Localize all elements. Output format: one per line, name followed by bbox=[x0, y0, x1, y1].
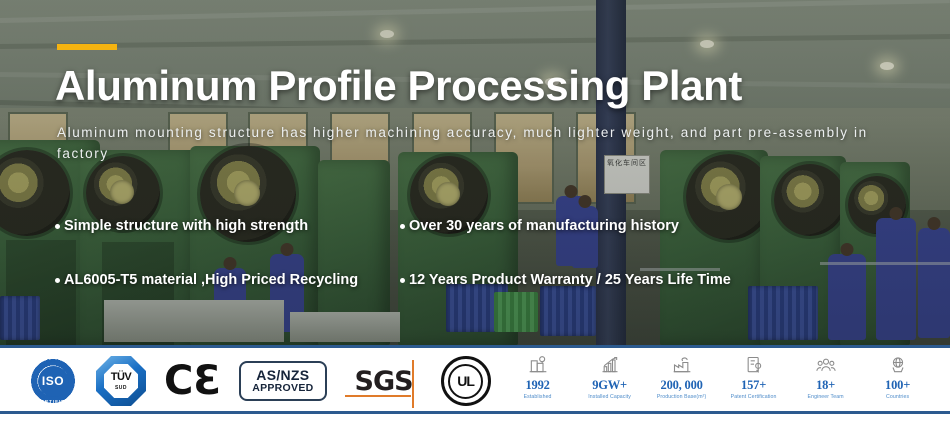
sgs-badge-vertical-rule bbox=[412, 360, 414, 408]
list-item: AL6005-T5 material ,High Priced Recyclin… bbox=[55, 272, 400, 288]
bullet-column: 12 Years Product Warranty / 25 Years Lif… bbox=[400, 272, 860, 288]
bullet-dot-icon bbox=[55, 278, 60, 283]
stat-value: 100+ bbox=[869, 378, 927, 393]
certificate-doc-icon bbox=[725, 354, 783, 376]
page-title: Aluminum Profile Processing Plant bbox=[55, 62, 915, 110]
stat-label: Patent Certification bbox=[725, 394, 783, 400]
bullet-dot-icon bbox=[400, 224, 405, 229]
sgs-badge-icon: SGS bbox=[345, 360, 423, 403]
bullet-column: Over 30 years of manufacturing history bbox=[400, 218, 860, 234]
as-nzs-approved-badge-icon: AS/NZS APPROVED bbox=[239, 361, 326, 402]
stat-value: 9GW+ bbox=[581, 378, 639, 393]
company-stats-list: 1992 Established 9GW+ Installed Capacity bbox=[491, 348, 927, 400]
bullet-row: AL6005-T5 material ,High Priced Recyclin… bbox=[55, 272, 915, 288]
bullet-text: 12 Years Product Warranty / 25 Years Lif… bbox=[409, 272, 731, 288]
stat-countries: 100+ Countries bbox=[869, 354, 927, 400]
tuv-sud-badge-icon: TÜV SUD bbox=[96, 356, 146, 406]
bullet-dot-icon bbox=[400, 278, 405, 283]
promo-banner: 氧化车间区 Aluminum Profile Processing Plant … bbox=[0, 0, 950, 428]
sgs-badge-label: SGS bbox=[355, 366, 413, 397]
stat-label: Installed Capacity bbox=[581, 394, 639, 400]
stat-engineer-team: 18+ Engineer Team bbox=[797, 354, 855, 400]
stat-label: Countries bbox=[869, 394, 927, 400]
accent-bar bbox=[57, 44, 117, 50]
hero-subtitle: Aluminum mounting structure has higher m… bbox=[57, 122, 917, 164]
stat-value: 200, 000 bbox=[653, 378, 711, 393]
tuv-badge-sub-label: SUD bbox=[115, 385, 127, 391]
asnzs-badge-line1: AS/NZS bbox=[256, 368, 309, 383]
ul-listed-badge-icon: UL bbox=[441, 356, 491, 406]
list-item: Simple structure with high strength bbox=[55, 218, 400, 234]
asnzs-badge-line2: APPROVED bbox=[252, 382, 313, 394]
bullet-row: Simple structure with high strength Over… bbox=[55, 218, 915, 234]
bullet-text: Over 30 years of manufacturing history bbox=[409, 218, 679, 234]
bullet-text: AL6005-T5 material ,High Priced Recyclin… bbox=[64, 272, 358, 288]
globe-hand-icon bbox=[869, 354, 927, 376]
list-item: 12 Years Product Warranty / 25 Years Lif… bbox=[400, 272, 860, 288]
list-item: Over 30 years of manufacturing history bbox=[400, 218, 860, 234]
sgs-badge-horizontal-rule bbox=[345, 395, 411, 397]
bullet-dot-icon bbox=[55, 224, 60, 229]
stat-label: Engineer Team bbox=[797, 394, 855, 400]
iso-badge-top-text: 9001 bbox=[47, 358, 59, 363]
credentials-footer: 9001 ISO CERTIFIED TÜV SUD CƐ AS/NZS APP… bbox=[0, 345, 950, 428]
feature-bullet-list: Simple structure with high strength Over… bbox=[55, 218, 915, 326]
production-plant-icon bbox=[653, 354, 711, 376]
iso-badge-bottom-text: CERTIFIED bbox=[37, 399, 70, 404]
factory-building-icon bbox=[509, 354, 567, 376]
bullet-text: Simple structure with high strength bbox=[64, 218, 308, 234]
iso-badge-icon: 9001 ISO CERTIFIED bbox=[28, 356, 78, 406]
tuv-badge-inner: TÜV SUD bbox=[104, 364, 138, 398]
stat-value: 1992 bbox=[509, 378, 567, 393]
bullet-column: AL6005-T5 material ,High Priced Recyclin… bbox=[55, 272, 400, 288]
ce-mark-icon: CƐ bbox=[164, 361, 221, 401]
certification-badge-list: 9001 ISO CERTIFIED TÜV SUD CƐ AS/NZS APP… bbox=[0, 348, 491, 406]
stat-established: 1992 Established bbox=[509, 354, 567, 400]
people-group-icon bbox=[797, 354, 855, 376]
stat-label: Established bbox=[509, 394, 567, 400]
stat-value: 18+ bbox=[797, 378, 855, 393]
ul-badge-label: UL bbox=[448, 364, 483, 399]
bar-chart-arrow-icon bbox=[581, 354, 639, 376]
stat-installed-capacity: 9GW+ Installed Capacity bbox=[581, 354, 639, 400]
tuv-badge-label: TÜV bbox=[111, 372, 132, 383]
stat-label: Production Base(m²) bbox=[653, 394, 711, 400]
stat-patent-certification: 157+ Patent Certification bbox=[725, 354, 783, 400]
iso-badge-label: ISO bbox=[42, 374, 64, 388]
bullet-column: Simple structure with high strength bbox=[55, 218, 400, 234]
stat-value: 157+ bbox=[725, 378, 783, 393]
footer-bottom-rule bbox=[0, 411, 950, 414]
ce-mark-label: CƐ bbox=[164, 361, 221, 401]
stat-production-base: 200, 000 Production Base(m²) bbox=[653, 354, 711, 400]
